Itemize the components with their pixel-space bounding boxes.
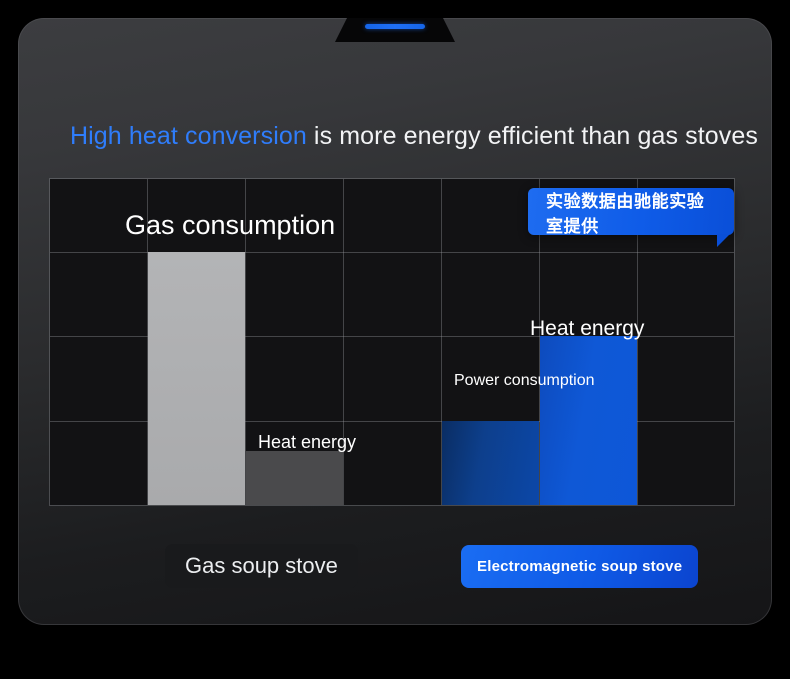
lab-data-callout-badge: 实验数据由驰能实验室提供 [528,188,734,235]
headline-rest-text: is more energy efficient than gas stoves [307,122,758,150]
bar-power-consumption [442,421,539,505]
legend-pill-gas-soup-stove[interactable]: Gas soup stove [165,544,358,588]
bar-label-gas-heat-energy: Heat energy [258,432,356,454]
legend-pill-electromagnetic-soup-stove[interactable]: Electromagnetic soup stove [461,545,698,588]
page-title: High heat conversion is more energy effi… [70,122,758,151]
headline-accent-text: High heat conversion [70,122,307,150]
device-panel: High heat conversion is more energy effi… [18,18,772,625]
lab-data-callout-text: 实验数据由驰能实验室提供 [546,187,716,237]
legend-pill-electromagnetic-label: Electromagnetic soup stove [477,558,682,575]
grid-line-vertical [343,179,344,505]
bar-label-gas-consumption: Gas consumption [125,209,335,242]
bar-gas-heat-energy [246,451,343,505]
legend-pill-gas-label: Gas soup stove [185,553,338,579]
callout-tail-icon [717,234,730,247]
bar-electromagnetic-heat-energy [540,336,637,505]
bar-label-electromagnetic-heat-energy: Heat energy [530,316,644,342]
notch-cutout [335,18,455,42]
bar-chart: Gas consumption Heat energy Power consum… [50,179,734,505]
notch-speaker-bar-icon [365,24,425,29]
bar-label-power-consumption: Power consumption [454,371,595,391]
bar-gas-consumption [148,252,245,505]
